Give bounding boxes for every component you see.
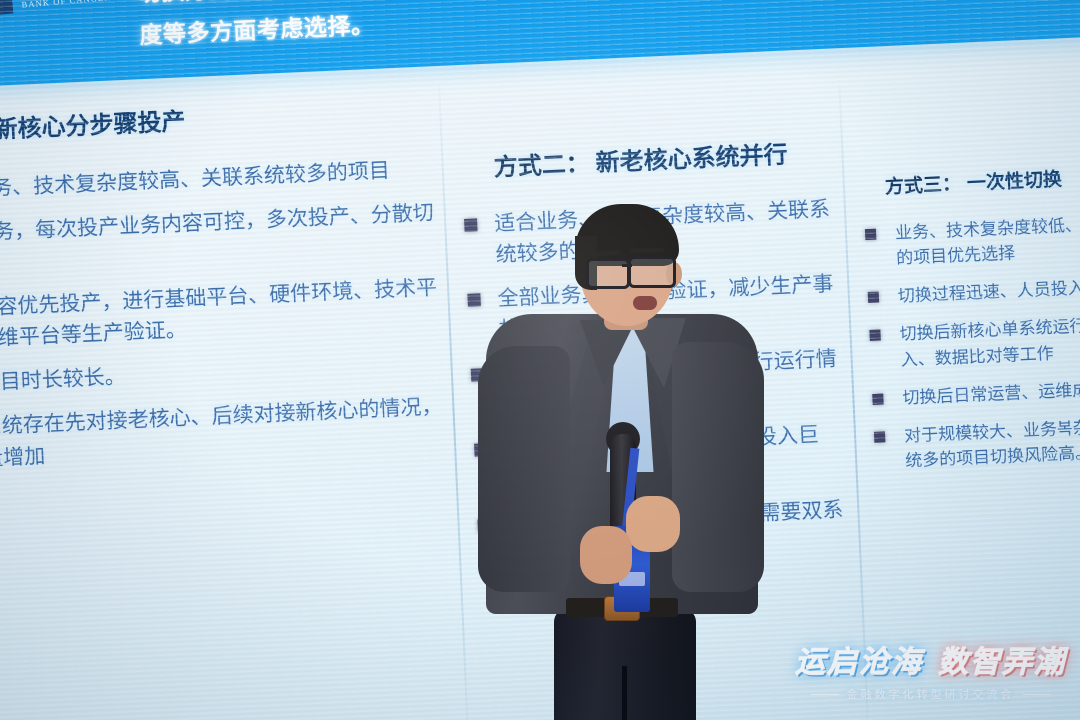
list-item: 切换后日常运营、运维成本低 <box>868 372 1080 412</box>
bullet-text: 拆分业务，每次投产业务内容可控，多次投产、分散切换风险 <box>0 201 434 277</box>
bullet-text: 切换后日常运营、运维成本低 <box>902 379 1080 408</box>
slide-summary-band: 主流的切换方式为三种：新老核心系统并行使用、新核心分步骤投产、一次性切换、 切换… <box>0 0 1080 88</box>
column-three-label: 方式三： <box>885 174 962 198</box>
bullet-text: 部分内容优先投产，进行基础平台、硬件环境、技术平台、运维平台等生产验证。 <box>0 276 438 352</box>
column-three: 方式三：一次性切换 业务、技术复杂度较低、关联系统较少的项目优先选择 切换过程迅… <box>858 159 1080 489</box>
rule-left <box>811 694 839 695</box>
speaker-hand-left <box>580 526 632 584</box>
bullet-square-icon <box>872 393 883 404</box>
list-item: 部分内容优先投产，进行基础平台、硬件环境、技术平台、运维平台等生产验证。 <box>0 272 449 358</box>
screenshot-root: 信创环境的切换方式 主流的切换方式为三种：新老核心系统并行使用、新核心分步骤投产… <box>0 0 1080 720</box>
list-item: 拆分业务，每次投产业务内容可控，多次投产、分散切换风险 <box>0 197 446 283</box>
bullet-text: 部分系统存在先对接老核心、后续对接新核心的情况，工作量增加 <box>0 396 443 472</box>
bullet-text: 适合业务、技术复杂度较高、关联系统较多的项目 <box>0 159 390 203</box>
eyeglasses-lens-right-icon <box>628 256 676 288</box>
column-two-label: 方式二： <box>493 150 590 181</box>
speaker-mouth <box>633 296 657 310</box>
band-line-2: 度等多方面考虑选择。 <box>139 11 375 51</box>
column-two-title: 方式二：新老核心系统并行 <box>493 132 836 182</box>
band-line-1: 切换方式的选择通常会根据实施银行的规模、业务复杂度、技术复杂度、关联系统数量、切… <box>137 0 1080 9</box>
list-item: 业务、技术复杂度较低、关联系统较少的项目优先选择 <box>861 208 1080 273</box>
bullet-text: 切换过程迅速、人员投入少 <box>897 278 1080 306</box>
column-one: 方式一：新核心分步骤投产 适合业务、技术复杂度较高、关联系统较多的项目 拆分业务… <box>0 90 455 491</box>
event-subtitle-text: 金融数字化转型研讨交流会 <box>847 686 1015 702</box>
bullet-text: 业务、技术复杂度较低、关联系统较少的项目优先选择 <box>895 211 1080 268</box>
list-item: 切换过程迅速、人员投入少 <box>863 271 1080 311</box>
event-watermark-title: 运启沧海 数智弄潮 <box>795 637 1066 681</box>
column-three-bullets: 业务、技术复杂度较低、关联系统较少的项目优先选择 切换过程迅速、人员投入少 切换… <box>861 208 1080 476</box>
bullet-text: 对于规模较大、业务복杂度高、关联系统多的项目切换风险高。 <box>904 414 1080 471</box>
speaker-leg-split <box>622 666 627 720</box>
column-three-title: 方式三：一次性切换 <box>884 159 1080 199</box>
column-two-heading: 新老核心系统并行 <box>595 141 788 177</box>
rule-right <box>1023 694 1051 695</box>
bullet-square-icon <box>865 229 876 240</box>
bullet-square-icon <box>868 292 879 303</box>
column-one-heading: 新核心分步骤投产 <box>0 108 186 144</box>
bullet-text: 切换后新核心单系统运行，无二次投入、数据比对等工作 <box>899 313 1080 369</box>
event-watermark-subtitle: 金融数字化转型研讨交流会 <box>795 686 1066 702</box>
eyeglasses-bridge-icon <box>622 264 632 267</box>
list-item: 切换后新核心单系统运行，无二次投入、数据比对等工作 <box>865 309 1080 374</box>
eyeglasses-lens-left-icon <box>586 258 630 289</box>
column-one-title: 方式一：新核心分步骤投产 <box>0 90 440 149</box>
speaker-arm-right <box>672 342 764 592</box>
list-item: 部分系统存在先对接老核心、后续对接新核心的情况，工作量增加 <box>0 391 454 477</box>
event-watermark: 运启沧海 数智弄潮 金融数字化转型研讨交流会 <box>795 637 1066 702</box>
bullet-text: 整体项目时长较长。 <box>0 366 126 397</box>
list-item: 对于规模较大、业务복杂度高、关联系统多的项目切换风险高。 <box>870 410 1080 475</box>
bullet-square-icon <box>869 330 880 341</box>
bullet-square-icon <box>874 431 885 442</box>
speaker-figure <box>476 196 776 720</box>
speaker-hand-right <box>626 496 680 552</box>
watermark-part-a: 运启沧海 <box>795 637 923 681</box>
speaker-arm-left <box>478 346 570 592</box>
column-three-heading: 一次性切换 <box>967 169 1063 194</box>
watermark-part-b: 数智弄潮 <box>938 637 1066 681</box>
column-one-bullets: 适合业务、技术复杂度较高、关联系统较多的项目 拆分业务，每次投产业务内容可控，多… <box>0 153 454 478</box>
